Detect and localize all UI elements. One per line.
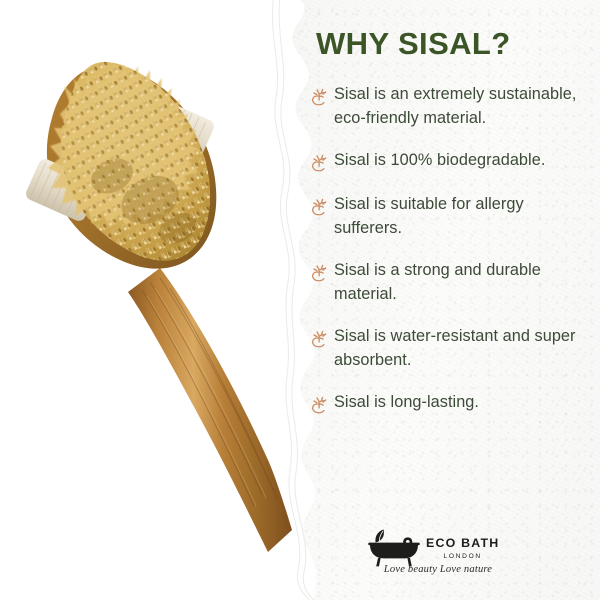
list-item: Sisal is an extremely sustainable, eco-f…	[310, 82, 600, 130]
list-item: Sisal is long-lasting.	[310, 390, 600, 416]
benefit-text: Sisal is 100% biodegradable.	[334, 148, 545, 172]
benefit-text: Sisal is a strong and durable material.	[334, 258, 592, 306]
brand-wordmark: ECO BATH LONDON	[426, 537, 499, 560]
bathtub-with-leaf-icon	[366, 528, 422, 568]
benefit-text: Sisal is suitable for allergy sufferers.	[334, 192, 592, 240]
brand-location: LONDON	[443, 553, 481, 560]
sprout-icon	[310, 326, 332, 350]
brand-name: ECO BATH	[426, 537, 499, 550]
list-item: Sisal is 100% biodegradable.	[310, 148, 600, 174]
list-item: Sisal is water-resistant and super absor…	[310, 324, 600, 372]
sprout-icon	[310, 194, 332, 218]
content-column: WHY SISAL? Sisal is an extremely s	[296, 0, 600, 600]
benefit-text: Sisal is an extremely sustainable, eco-f…	[334, 82, 592, 130]
product-image-sisal-dry-body-brush	[0, 0, 300, 600]
sprout-icon	[310, 84, 332, 108]
benefits-list: Sisal is an extremely sustainable, eco-f…	[310, 82, 600, 416]
sprout-icon	[310, 392, 332, 416]
brand-tagline: Love beauty Love nature	[368, 564, 508, 575]
page-title: WHY SISAL?	[316, 26, 511, 62]
brand-logo: ECO BATH LONDON	[366, 528, 536, 584]
sprout-icon	[310, 260, 332, 284]
benefit-text: Sisal is water-resistant and super absor…	[334, 324, 592, 372]
list-item: Sisal is a strong and durable material.	[310, 258, 600, 306]
benefit-text: Sisal is long-lasting.	[334, 390, 479, 414]
list-item: Sisal is suitable for allergy sufferers.	[310, 192, 600, 240]
sprout-icon	[310, 150, 332, 174]
poster-canvas: WHY SISAL? Sisal is an extremely s	[0, 0, 600, 600]
